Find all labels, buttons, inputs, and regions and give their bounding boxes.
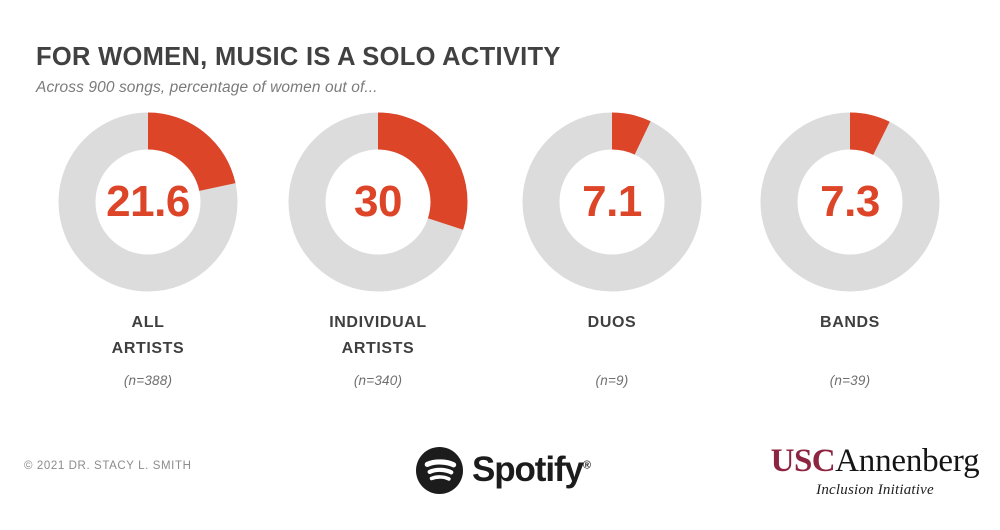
donut-category-line: BANDS <box>735 310 965 336</box>
donut-graphic: 30 <box>288 112 468 292</box>
header: FOR WOMEN, MUSIC IS A SOLO ACTIVITY Acro… <box>36 44 936 97</box>
spotify-wordmark-text: Spotify <box>472 450 583 489</box>
donut-graphic: 7.3 <box>760 112 940 292</box>
donut-chart-row: 21.6 ALL ARTISTS (n=388) 30 INDIVIDUAL A… <box>0 112 1000 402</box>
annenberg-wordmark: Annenberg <box>835 443 979 479</box>
page-title: FOR WOMEN, MUSIC IS A SOLO ACTIVITY <box>36 44 936 72</box>
donut-chart-bands: 7.3 BANDS (n=39) <box>735 112 965 388</box>
donut-sample-size: (n=340) <box>263 373 493 388</box>
donut-sample-size: (n=9) <box>497 373 727 388</box>
donut-category-line: ARTISTS <box>263 336 493 362</box>
usc-wordmark: USC <box>771 443 836 479</box>
spotify-wordmark: Spotify® <box>472 452 591 487</box>
donut-value-label: 7.3 <box>760 112 940 292</box>
donut-value-label: 7.1 <box>522 112 702 292</box>
donut-category-line: DUOS <box>497 310 727 336</box>
donut-category-label: BANDS <box>735 310 965 336</box>
donut-category-label: INDIVIDUAL ARTISTS <box>263 310 493 363</box>
copyright-notice: © 2021 DR. STACY L. SMITH <box>24 460 191 472</box>
donut-category-line: ARTISTS <box>33 336 263 362</box>
page-subtitle: Across 900 songs, percentage of women ou… <box>36 79 936 97</box>
donut-value-label: 21.6 <box>58 112 238 292</box>
donut-category-line: INDIVIDUAL <box>263 310 493 336</box>
donut-category-label: ALL ARTISTS <box>33 310 263 363</box>
spotify-icon <box>416 447 463 494</box>
donut-sample-size: (n=388) <box>33 373 263 388</box>
infographic-canvas: FOR WOMEN, MUSIC IS A SOLO ACTIVITY Acro… <box>0 0 1000 530</box>
donut-chart-all-artists: 21.6 ALL ARTISTS (n=388) <box>33 112 263 388</box>
donut-category-line: ALL <box>33 310 263 336</box>
usc-logo-line: USCAnnenberg <box>768 444 982 479</box>
usc-tagline: Inclusion Initiative <box>768 482 982 499</box>
donut-graphic: 21.6 <box>58 112 238 292</box>
donut-value-label: 30 <box>288 112 468 292</box>
donut-sample-size: (n=39) <box>735 373 965 388</box>
donut-chart-individual-artists: 30 INDIVIDUAL ARTISTS (n=340) <box>263 112 493 388</box>
registered-trademark-icon: ® <box>583 459 591 471</box>
donut-category-label: DUOS <box>497 310 727 336</box>
spotify-logo: Spotify® <box>416 447 591 494</box>
donut-chart-duos: 7.1 DUOS (n=9) <box>497 112 727 388</box>
usc-annenberg-logo: USCAnnenberg Inclusion Initiative <box>768 444 982 499</box>
donut-graphic: 7.1 <box>522 112 702 292</box>
